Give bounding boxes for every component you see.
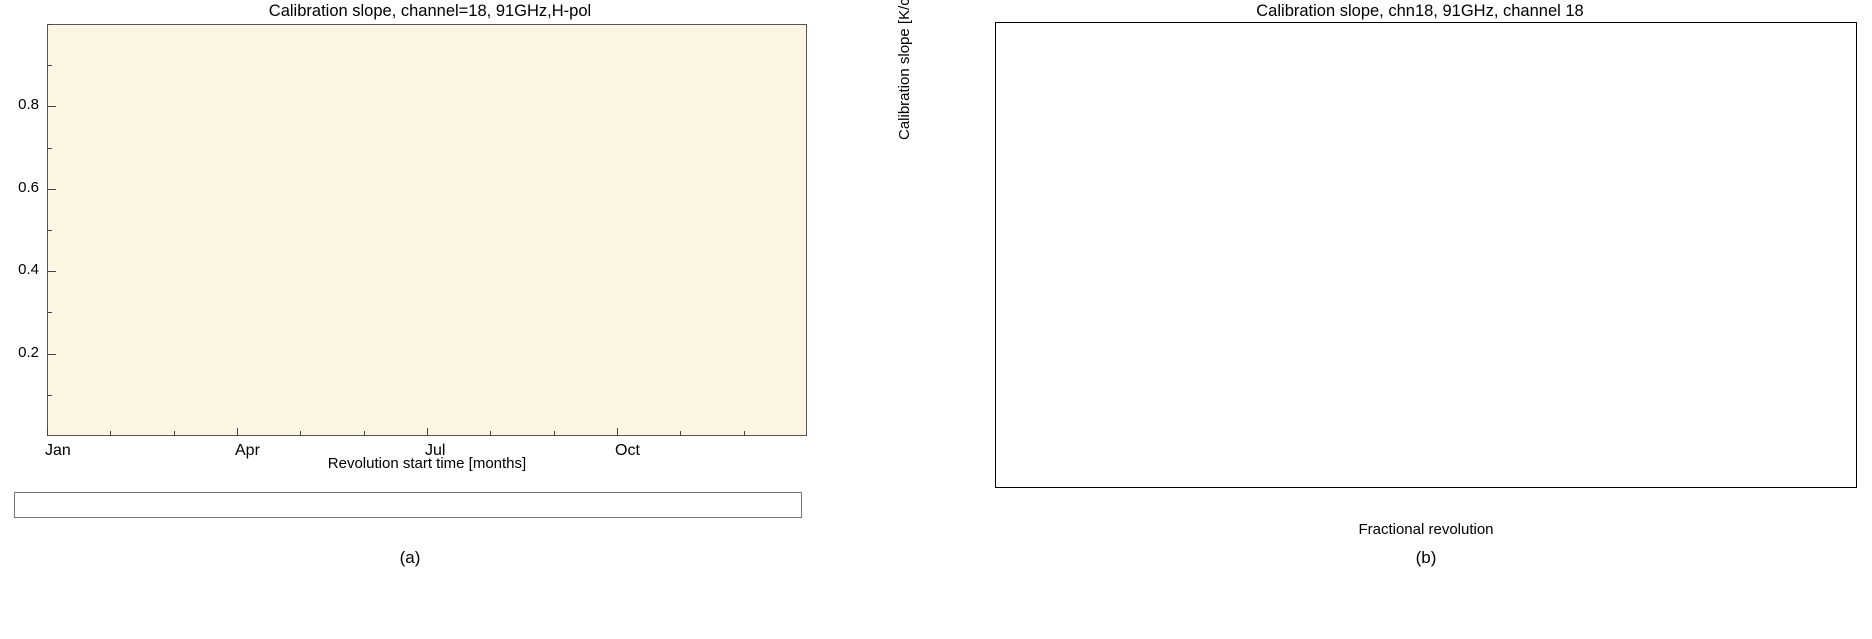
panel-a-y-minor-tick xyxy=(47,189,52,190)
panel-a-y-minor-tick xyxy=(47,230,52,231)
panel-a-y-tick-label: 0.8 xyxy=(0,96,39,113)
panel-a-x-minor-tick xyxy=(490,431,491,436)
panel-a-x-tick-mark xyxy=(47,428,48,436)
panel-a-y-tick-label: 0.6 xyxy=(0,179,39,196)
panel-b: Calibration slope, chn18, 91GHz, channel… xyxy=(880,0,1872,639)
panel-a-y-tick-label: 0.2 xyxy=(0,344,39,361)
heatmap-canvas xyxy=(48,25,806,435)
panel-a-x-minor-tick xyxy=(427,431,428,436)
panel-a-x-minor-tick xyxy=(554,431,555,436)
panel-a-x-minor-tick xyxy=(300,431,301,436)
panel-a-y-tick-label: 0.4 xyxy=(0,261,39,278)
panel-b-y-axis-label: Calibration slope [K/count] xyxy=(896,0,913,140)
panel-b-x-axis-label: Fractional revolution xyxy=(995,521,1857,538)
panel-a: Calibration slope, channel=18, 91GHz,H-p… xyxy=(0,0,860,639)
colorbar-gradient xyxy=(14,492,802,518)
panel-a-x-minor-tick xyxy=(680,431,681,436)
panel-a-y-minor-tick xyxy=(47,354,52,355)
panel-a-x-minor-tick xyxy=(364,431,365,436)
figure-root: Calibration slope, channel=18, 91GHz,H-p… xyxy=(0,0,1872,639)
panel-a-x-minor-tick xyxy=(744,431,745,436)
panel-b-caption: (b) xyxy=(995,548,1857,568)
panel-b-title: Calibration slope, chn18, 91GHz, channel… xyxy=(990,2,1850,21)
line-series-svg xyxy=(996,23,1856,487)
panel-a-y-minor-tick xyxy=(47,148,52,149)
panel-a-caption: (a) xyxy=(0,548,820,568)
panel-a-y-minor-tick xyxy=(47,24,52,25)
panel-a-y-minor-tick xyxy=(47,106,52,107)
panel-a-y-minor-tick xyxy=(47,395,52,396)
line-plot-area xyxy=(995,22,1857,488)
panel-a-x-minor-tick xyxy=(110,431,111,436)
panel-a-x-minor-tick xyxy=(617,431,618,436)
panel-a-x-axis-label: Revolution start time [months] xyxy=(47,455,807,472)
panel-a-y-minor-tick xyxy=(47,271,52,272)
panel-a-title: Calibration slope, channel=18, 91GHz,H-p… xyxy=(40,2,820,21)
panel-a-y-minor-tick xyxy=(47,65,52,66)
heatmap-plot-area xyxy=(47,24,807,436)
panel-a-x-minor-tick xyxy=(237,431,238,436)
colorbar xyxy=(14,492,802,518)
panel-a-x-minor-tick xyxy=(174,431,175,436)
panel-a-y-minor-tick xyxy=(47,312,52,313)
